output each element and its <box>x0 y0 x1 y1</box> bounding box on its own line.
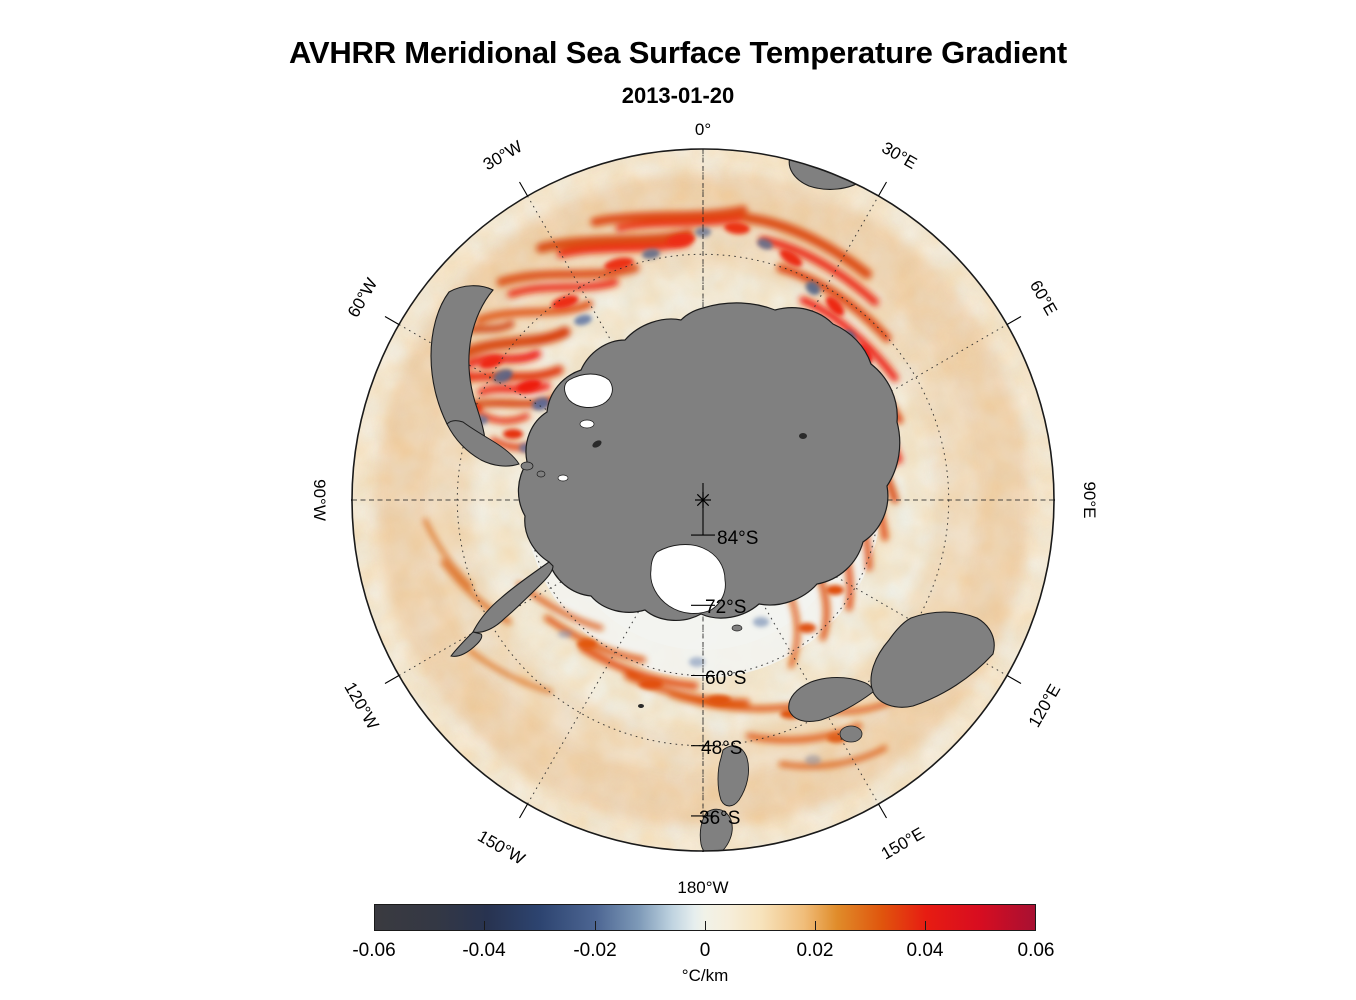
figure-subtitle: 2013-01-20 <box>0 84 1356 108</box>
colorbar-label-zero: 0 <box>700 940 711 962</box>
lon-label-90e: 90°E <box>1079 481 1099 518</box>
colorbar-tick <box>595 921 596 931</box>
lat-label-48s: 48°S <box>701 738 742 759</box>
colorbar-tick <box>705 921 706 931</box>
colorbar-label: -0.02 <box>573 940 616 962</box>
polar-map[interactable]: 84°S 72°S 60°S 48°S 36°S <box>351 148 1055 852</box>
lat-label-84s: 84°S <box>717 528 758 549</box>
lat-label-72s: 72°S <box>705 597 746 618</box>
lon-label-0: 0° <box>695 120 711 140</box>
page-title: AVHRR Meridional Sea Surface Temperature… <box>0 36 1356 70</box>
title-block: AVHRR Meridional Sea Surface Temperature… <box>0 36 1356 108</box>
lat-label-36s: 36°S <box>699 808 740 829</box>
colorbar-tick <box>815 921 816 931</box>
colorbar-label-min: -0.06 <box>352 940 395 962</box>
colorbar-label: 0.02 <box>797 940 834 962</box>
colorbar-tick <box>925 921 926 931</box>
lat-label-60s: 60°S <box>705 668 746 689</box>
lon-label-180w: 180°W <box>677 878 728 898</box>
colorbar-label: -0.04 <box>462 940 505 962</box>
colorbar-tick <box>484 921 485 931</box>
colorbar-label: 0.04 <box>907 940 944 962</box>
colorbar[interactable]: -0.06 -0.04 -0.02 0 0.02 0.04 0.06 °C/km <box>374 904 1036 1000</box>
colorbar-unit-label: °C/km <box>682 966 728 986</box>
colorbar-label-max: 0.06 <box>1018 940 1055 962</box>
lon-label-90w: 90°W <box>309 479 329 521</box>
figure-canvas: AVHRR Meridional Sea Surface Temperature… <box>0 0 1356 1000</box>
map-svg: 84°S 72°S 60°S 48°S 36°S <box>351 148 1055 852</box>
